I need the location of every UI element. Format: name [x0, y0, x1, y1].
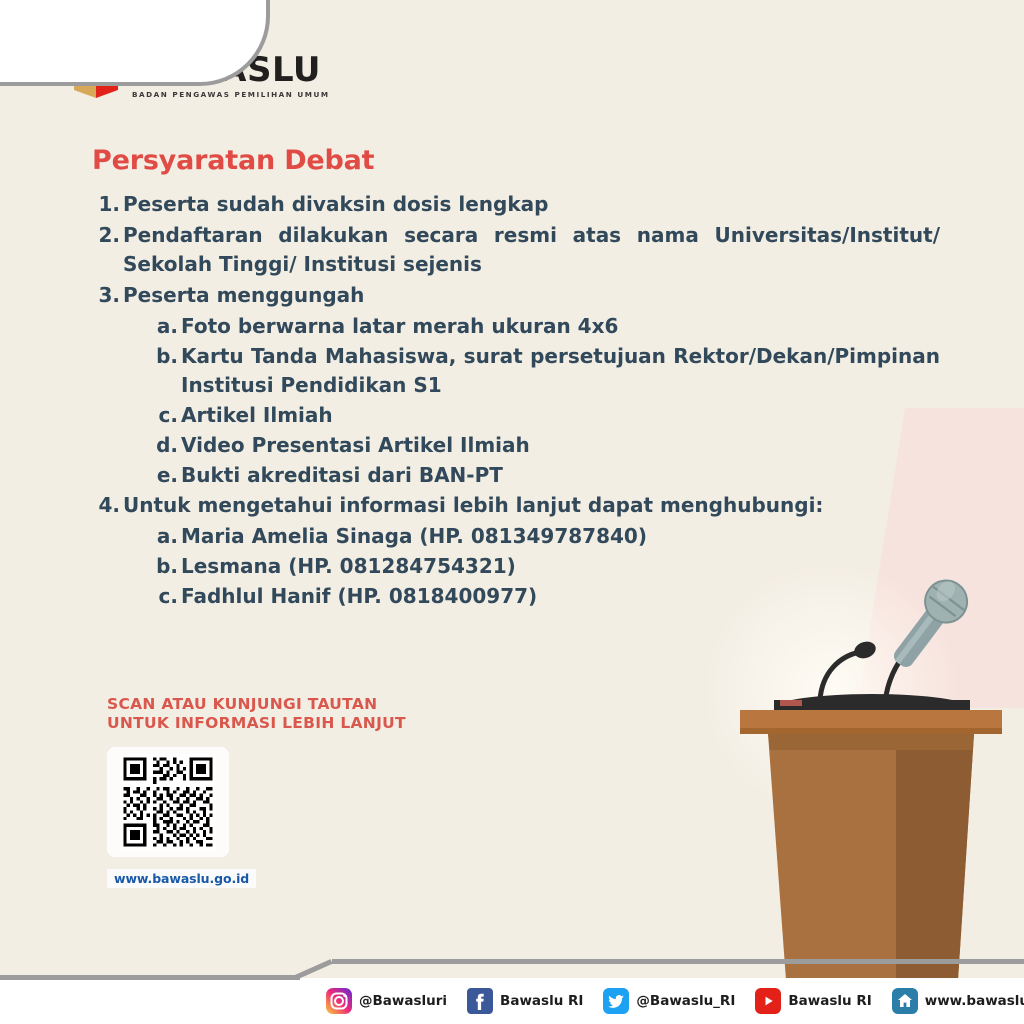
sub-list-item: b.Kartu Tanda Mahasiswa, surat persetuju… — [155, 342, 940, 400]
footer-edge-left — [0, 975, 300, 980]
list-item-text: Peserta sudah divaksin dosis lengkap — [123, 190, 940, 219]
social-link-home[interactable]: www.bawaslu.go.id — [892, 988, 1024, 1014]
instagram-icon[interactable] — [326, 988, 352, 1014]
poster-canvas: BAWASLU BADAN PENGAWAS PEMILIHAN UMUM — [0, 0, 1024, 1024]
list-marker: 3. — [92, 281, 123, 310]
sub-list-item-text: Fadhlul Hanif (HP. 0818400977) — [181, 582, 940, 611]
sub-list-item: c.Fadhlul Hanif (HP. 0818400977) — [155, 582, 940, 611]
facebook-icon[interactable] — [467, 988, 493, 1014]
list-marker: 1. — [92, 190, 123, 219]
sub-list-item-text: Bukti akreditasi dari BAN-PT — [181, 461, 940, 490]
social-label: @Bawasluri — [359, 993, 447, 1009]
sub-list-item-text: Kartu Tanda Mahasiswa, surat persetujuan… — [181, 342, 940, 400]
sub-list-marker: b. — [155, 552, 181, 581]
sub-list-item-text: Artikel Ilmiah — [181, 401, 940, 430]
sub-list-marker: d. — [155, 431, 181, 460]
sub-list-marker: b. — [155, 342, 181, 371]
qr-code-icon — [120, 754, 216, 850]
list-item: 3.Peserta menggungah — [92, 281, 940, 310]
sub-list-item: a.Foto berwarna latar merah ukuran 4x6 — [155, 312, 940, 341]
list-marker: 4. — [92, 491, 123, 520]
gooseneck-microphone-icon — [820, 639, 878, 700]
social-link-twitter[interactable]: @Bawaslu_RI — [603, 988, 735, 1014]
sub-list-item: c.Artikel Ilmiah — [155, 401, 940, 430]
sub-list: a.Foto berwarna latar merah ukuran 4x6b.… — [155, 312, 940, 490]
social-link-facebook[interactable]: Bawaslu RI — [467, 988, 583, 1014]
qr-code-card[interactable] — [107, 747, 229, 857]
social-label: Bawaslu RI — [500, 993, 583, 1009]
qr-heading: SCAN ATAU KUNJUNGI TAUTAN UNTUK INFORMAS… — [107, 695, 406, 733]
footer-edge-right — [332, 959, 1024, 964]
qr-heading-line-1: SCAN ATAU KUNJUNGI TAUTAN — [107, 695, 406, 714]
list-marker: 2. — [92, 221, 123, 250]
sub-list-item: e.Bukti akreditasi dari BAN-PT — [155, 461, 940, 490]
qr-heading-line-2: UNTUK INFORMASI LEBIH LANJUT — [107, 714, 406, 733]
sub-list-marker: a. — [155, 312, 181, 341]
sub-list-item-text: Lesmana (HP. 081284754321) — [181, 552, 940, 581]
main-content: Persyaratan Debat 1.Peserta sudah divaks… — [92, 145, 940, 612]
list-item: 2.Pendaftaran dilakukan secara resmi ata… — [92, 221, 940, 279]
list-item: 4.Untuk mengetahui informasi lebih lanju… — [92, 491, 940, 520]
sub-list-item: d.Video Presentasi Artikel Ilmiah — [155, 431, 940, 460]
sub-list-item: b.Lesmana (HP. 081284754321) — [155, 552, 940, 581]
sub-list-marker: c. — [155, 582, 181, 611]
sub-list: a.Maria Amelia Sinaga (HP. 081349787840)… — [155, 522, 940, 611]
sub-list-item-text: Maria Amelia Sinaga (HP. 081349787840) — [181, 522, 940, 551]
youtube-icon[interactable] — [755, 988, 781, 1014]
footer-edge-diagonal — [294, 959, 333, 980]
list-item-text: Peserta menggungah — [123, 281, 940, 310]
sub-list-item-text: Video Presentasi Artikel Ilmiah — [181, 431, 940, 460]
social-label: www.bawaslu.go.id — [925, 993, 1024, 1009]
sub-list-item-text: Foto berwarna latar merah ukuran 4x6 — [181, 312, 940, 341]
page-title: Persyaratan Debat — [92, 145, 940, 176]
list-item: 1.Peserta sudah divaksin dosis lengkap — [92, 190, 940, 219]
sub-list-marker: e. — [155, 461, 181, 490]
footer-bar: @BawasluriBawaslu RI@Bawaslu_RIBawaslu R… — [0, 972, 1024, 1024]
twitter-icon[interactable] — [603, 988, 629, 1014]
brand-tagline: BADAN PENGAWAS PEMILIHAN UMUM — [132, 91, 330, 98]
social-link-youtube[interactable]: Bawaslu RI — [755, 988, 871, 1014]
social-link-instagram[interactable]: @Bawasluri — [326, 988, 447, 1014]
qr-section: SCAN ATAU KUNJUNGI TAUTAN UNTUK INFORMAS… — [107, 695, 406, 888]
header-card — [0, 0, 270, 86]
podium-illustration — [700, 560, 1024, 980]
social-label: Bawaslu RI — [788, 993, 871, 1009]
social-label: @Bawaslu_RI — [636, 993, 735, 1009]
list-item-text: Untuk mengetahui informasi lebih lanjut … — [123, 491, 940, 520]
requirements-list: 1.Peserta sudah divaksin dosis lengkap2.… — [92, 190, 940, 611]
sub-list-marker: c. — [155, 401, 181, 430]
website-link[interactable]: www.bawaslu.go.id — [107, 869, 256, 888]
sub-list-item: a.Maria Amelia Sinaga (HP. 081349787840) — [155, 522, 940, 551]
sub-list-marker: a. — [155, 522, 181, 551]
social-links: @BawasluriBawaslu RI@Bawaslu_RIBawaslu R… — [322, 978, 1024, 1024]
list-item-text: Pendaftaran dilakukan secara resmi atas … — [123, 221, 940, 279]
home-icon[interactable] — [892, 988, 918, 1014]
